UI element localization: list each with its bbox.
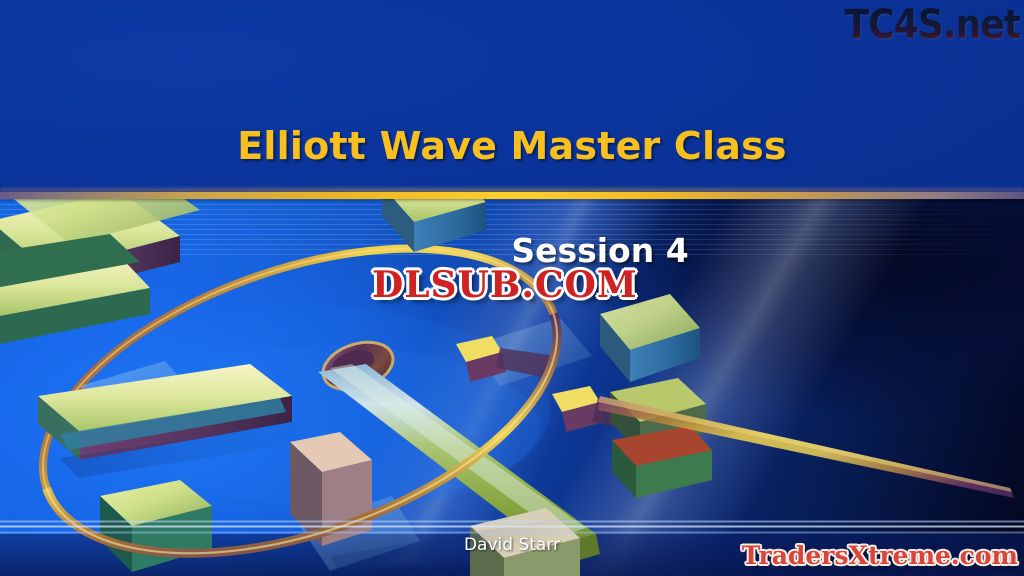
prism-right-upper — [600, 294, 700, 382]
presentation-slide: Elliott Wave Master Class Session 4 Davi… — [0, 0, 1024, 576]
watermark-tradersxtreme: TradersXtreme.com — [742, 541, 1018, 570]
gold-divider — [0, 192, 1024, 199]
watermark-tc4s: TC4S.net — [844, 2, 1020, 48]
prism-left-mid — [0, 234, 150, 344]
watermark-dlsub: DLSUB.COM — [372, 264, 638, 306]
page-title: Elliott Wave Master Class — [0, 124, 1024, 168]
